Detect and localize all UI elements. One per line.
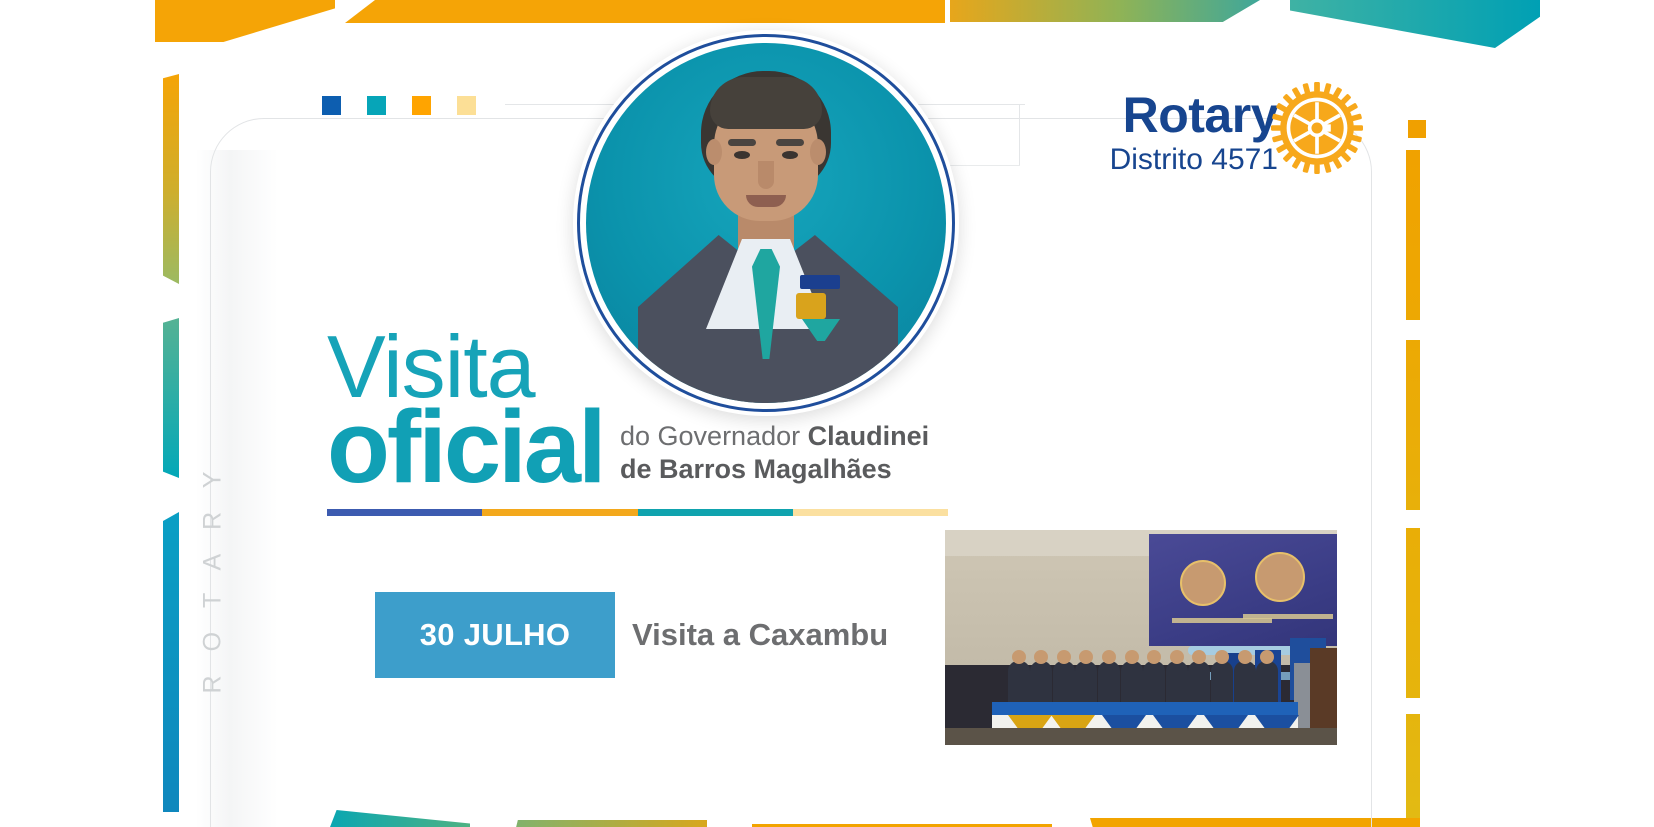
governor-portrait	[573, 30, 959, 416]
projection-screen	[1149, 534, 1337, 646]
rotary-wheel-icon	[1271, 82, 1363, 174]
frame-left-bar-1	[163, 74, 179, 284]
color-dots-row	[322, 96, 476, 115]
governor-name-first: Claudinei	[808, 421, 930, 451]
poster-canvas: ROTARY Rotary Distrito 4571	[0, 0, 1654, 827]
frame-right-bar-3	[1406, 528, 1420, 698]
frame-left-bar-3	[163, 512, 179, 812]
frame-right-bar-4	[1406, 714, 1420, 827]
event-date-label: 30 JULHO	[420, 617, 571, 653]
governor-name-rest: de Barros Magalhães	[620, 454, 892, 484]
frame-top-gradient-b	[1290, 0, 1540, 48]
portrait-ring	[577, 34, 955, 412]
subtitle-prefix: do Governador	[620, 421, 808, 451]
rotary-watermark-text: ROTARY	[199, 447, 228, 693]
rotary-district-label: Distrito 4571	[1110, 143, 1278, 177]
governor-subtitle: do Governador Claudinei de Barros Magalh…	[620, 420, 1050, 486]
frame-right-bar-2	[1406, 340, 1420, 510]
frame-top-right-square	[1408, 120, 1426, 138]
event-date-badge: 30 JULHO	[375, 592, 615, 678]
event-title: Visita a Caxambu	[632, 617, 888, 653]
dot-azure	[322, 96, 341, 115]
frame-left-bar-2	[163, 318, 179, 478]
frame-top-left-orange	[155, 0, 335, 42]
headline-line-2: oficial	[327, 398, 604, 496]
rotary-wordmark: Rotary	[1123, 86, 1278, 144]
hairline-vertical	[1019, 104, 1020, 166]
event-photo	[945, 530, 1337, 745]
dot-sand	[457, 96, 476, 115]
frame-top-gradient-a	[950, 0, 1260, 22]
rule-blue	[327, 509, 482, 516]
rule-orange	[482, 509, 637, 516]
dot-teal	[367, 96, 386, 115]
rotary-logo: Rotary Distrito 4571	[1078, 88, 1358, 188]
rotary-watermark: ROTARY	[183, 350, 243, 790]
color-rule	[327, 509, 948, 516]
frame-top-orange-bar	[345, 0, 945, 23]
frame-right-bar-1	[1406, 150, 1420, 320]
dot-orange	[412, 96, 431, 115]
rule-teal	[638, 509, 793, 516]
rule-sand	[793, 509, 948, 516]
